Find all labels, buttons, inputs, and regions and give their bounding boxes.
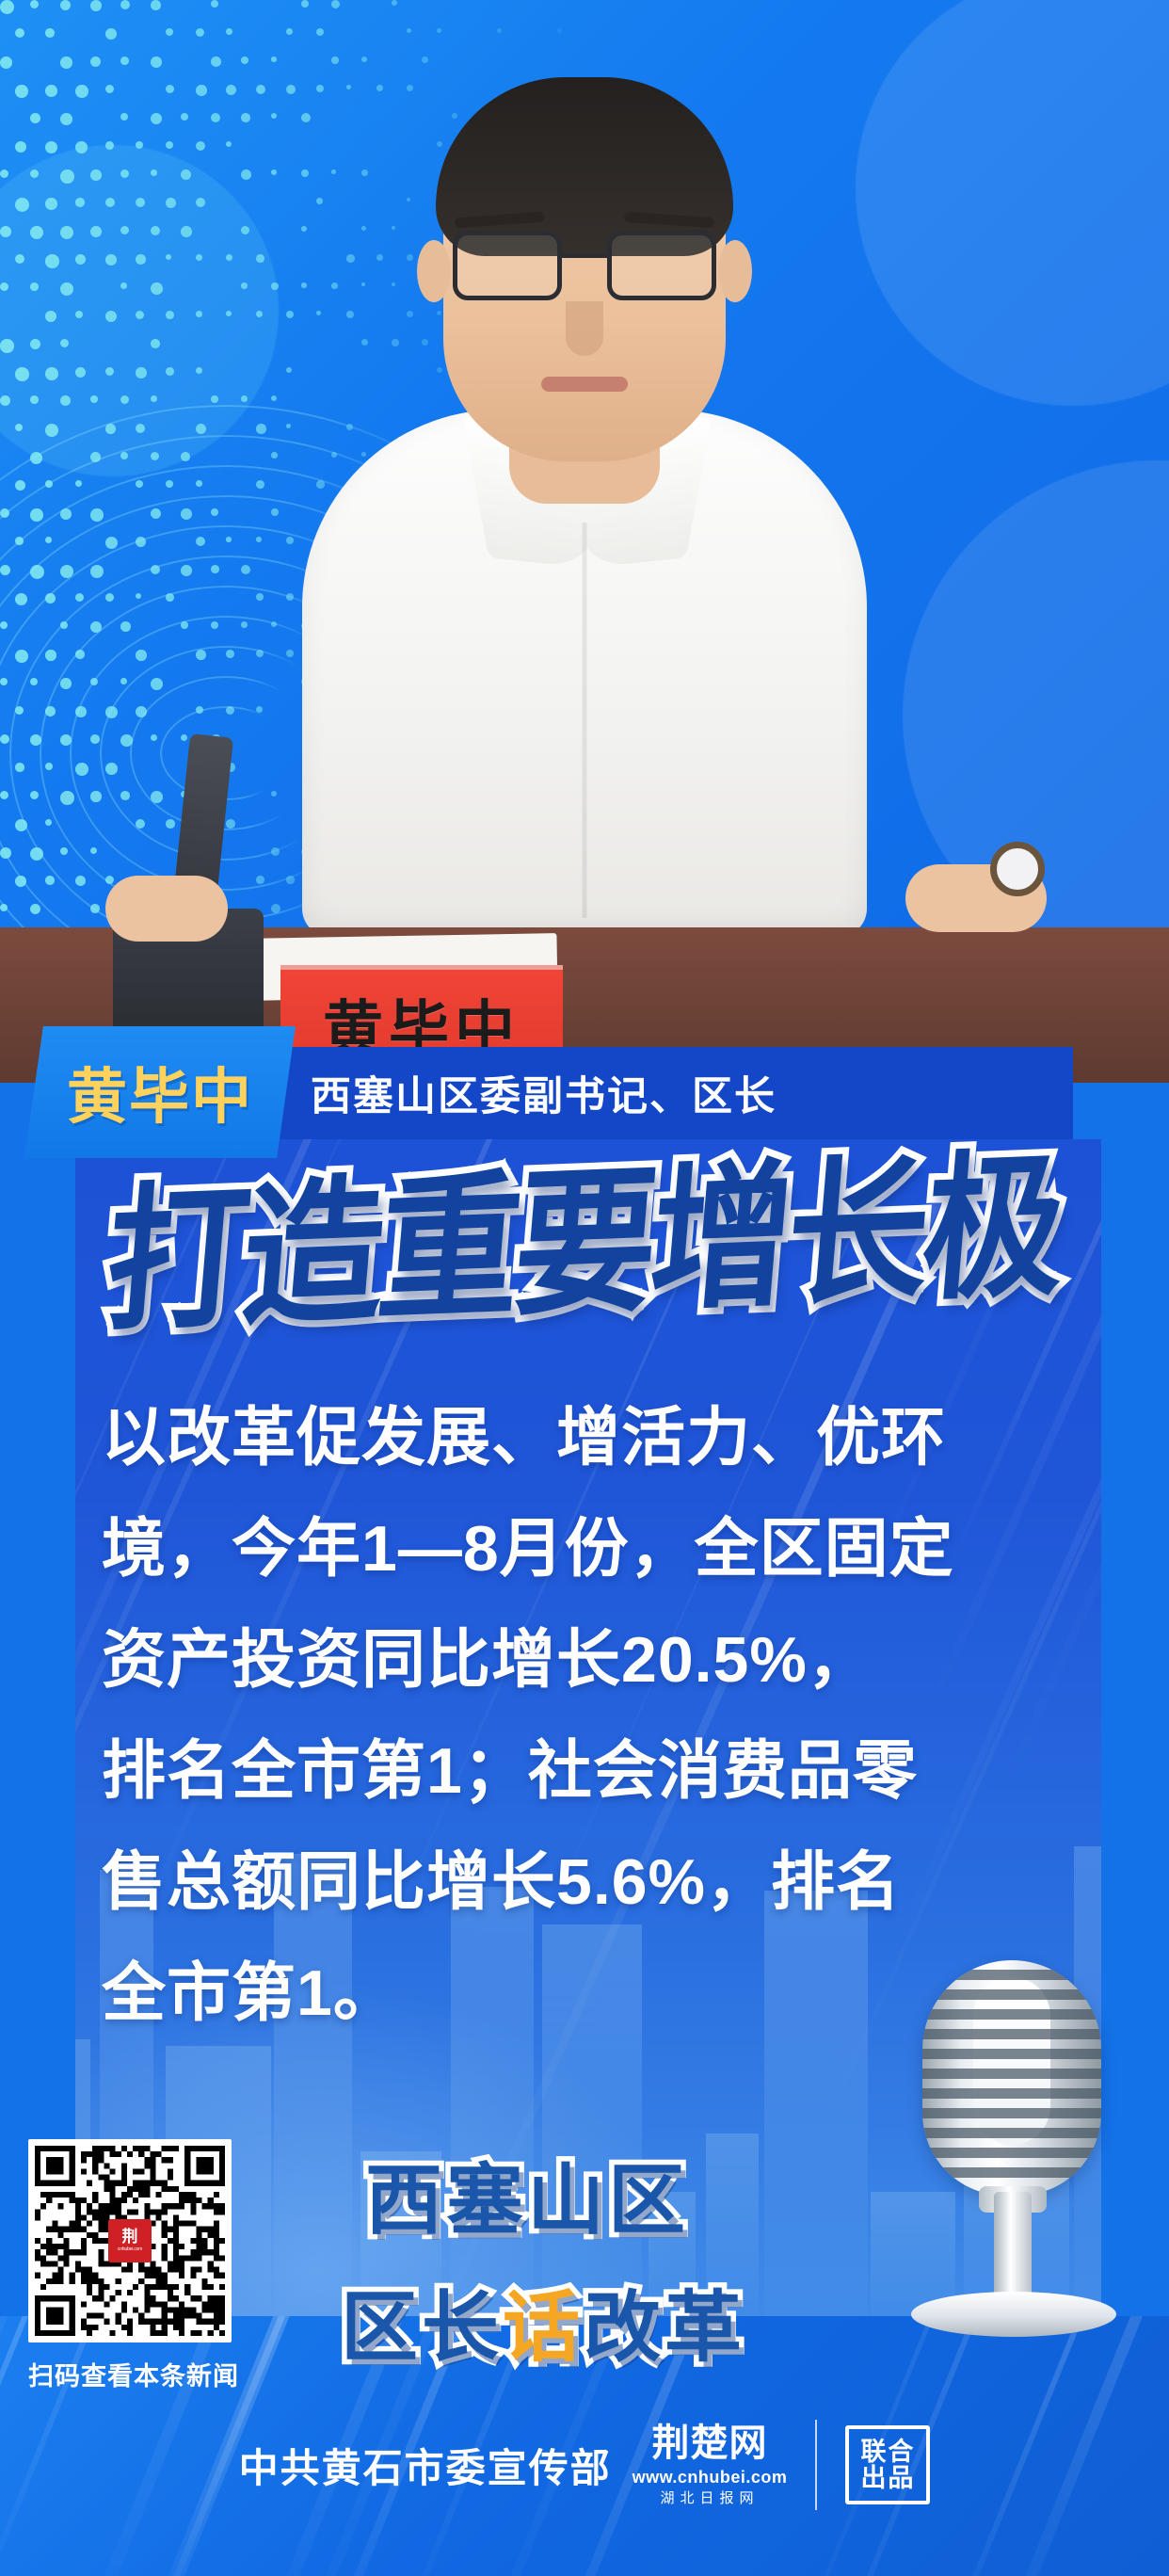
footer-stamp-line2: 出品 [860, 2465, 915, 2491]
speaker-portrait [255, 0, 914, 1083]
lens-left [453, 231, 562, 300]
ear-left [417, 240, 451, 302]
footer-credits: 中共黄石市委宣传部 荆楚网 www.cnhubei.com 湖北日报网 联合 出… [0, 2420, 1169, 2510]
microphone-highlight [973, 1977, 1050, 2145]
poster-root: 黄毕中 西塞山区委副书记、区长 黄毕中 打造重要增长极 以改革促发展、增活力、优… [0, 0, 1169, 2576]
quote-line: 售总额同比增长5.6%，排名 [102, 1827, 1071, 1938]
microphone-head [922, 1960, 1101, 2196]
microphone-base [911, 2292, 1116, 2337]
program-wordmark: 西塞山区 区长话改革 [365, 2137, 745, 2376]
quote-line: 境，今年1—8月份，全区固定 [102, 1493, 1071, 1604]
quote-body-text: 以改革促发展、增活力、优环境，今年1—8月份，全区固定资产投资同比增长20.5%… [102, 1382, 1071, 2049]
mouth [541, 377, 628, 392]
ear-right [718, 240, 752, 302]
microphone-icon [902, 1960, 1137, 2337]
qr-center-logo: 荆 cnhubei.com [108, 2219, 152, 2262]
headline-text: 打造重要增长极 [99, 1097, 1071, 1362]
qr-logo-sub: cnhubei.com [118, 2247, 142, 2252]
footer-organization: 中共黄石市委宣传部 [239, 2437, 612, 2494]
footer-divider [815, 2420, 817, 2510]
wordmark-line2: 区长话改革 [341, 2264, 745, 2376]
lens-right [607, 231, 716, 300]
shirt-placket [583, 523, 587, 918]
nose [566, 301, 603, 356]
wordmark-line2-a: 区长 [341, 2283, 503, 2373]
hair [436, 77, 733, 256]
speaker-photo-area: 黄毕中 [0, 0, 1169, 1083]
wordmark-line2-b: 改革 [584, 2283, 745, 2373]
footer-brand: 荆楚网 www.cnhubei.com 湖北日报网 [633, 2424, 788, 2505]
quote-line: 以改革促发展、增活力、优环 [102, 1382, 1071, 1493]
hand-left [105, 876, 228, 942]
qr-logo-main: 荆 [122, 2230, 138, 2246]
wordmark-line2-highlight: 话 [503, 2283, 584, 2373]
headline-block: 打造重要增长极 [0, 1126, 1169, 1333]
wordmark-line1: 西塞山区 [365, 2137, 745, 2249]
quote-line: 资产投资同比增长20.5%， [102, 1604, 1071, 1715]
footer-stamp-line1: 联合 [860, 2439, 915, 2465]
glasses-icon [453, 231, 716, 302]
footer-brand-sub: 湖北日报网 [661, 2491, 760, 2505]
footer-stamp: 联合 出品 [845, 2425, 930, 2505]
quote-line: 排名全市第1；社会消费品零 [102, 1715, 1071, 1827]
qr-code-icon[interactable]: 荆 cnhubei.com [28, 2139, 232, 2343]
footer-brand-name: 荆楚网 [652, 2424, 768, 2462]
speaker-name: 黄毕中 [67, 1049, 253, 1135]
glasses-bridge [562, 253, 607, 258]
qr-caption: 扫码查看本条新闻 [28, 2356, 282, 2392]
wristwatch [990, 842, 1045, 896]
footer-brand-url: www.cnhubei.com [633, 2469, 788, 2486]
qr-block[interactable]: 荆 cnhubei.com 扫码查看本条新闻 [28, 2139, 282, 2392]
